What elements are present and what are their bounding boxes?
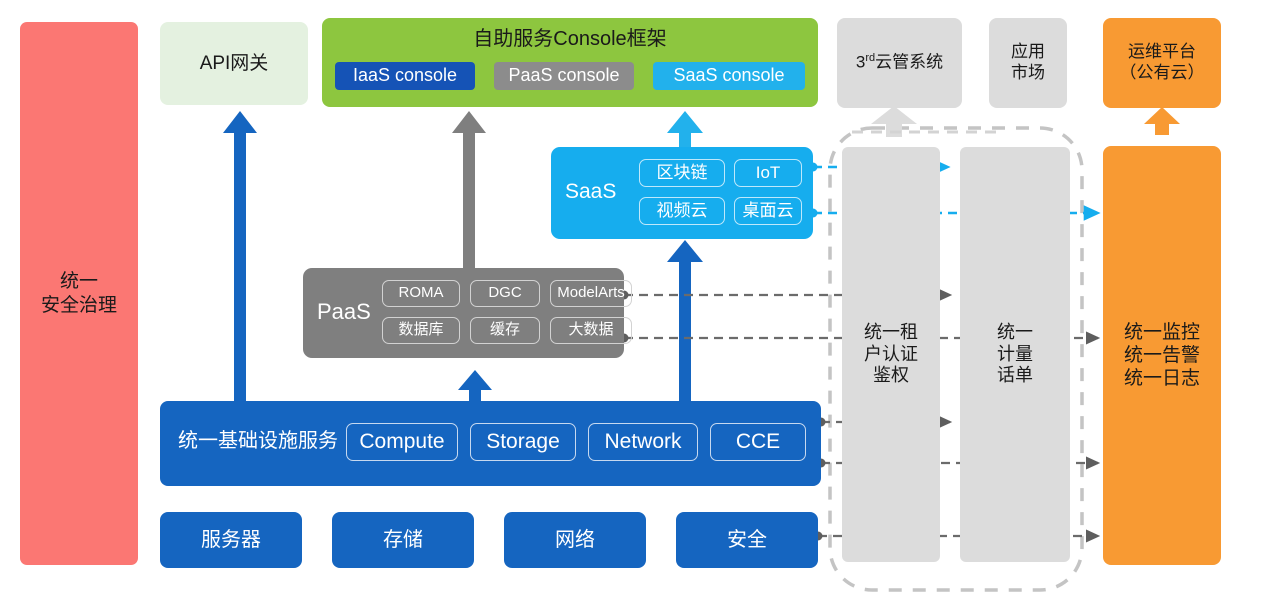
third-party-label: 3rd云管系统 (856, 52, 943, 73)
api-gateway-box[interactable]: API网关 (160, 22, 308, 105)
auth-line-1: 统一租 (864, 322, 918, 344)
ops-platform-panel[interactable]: 统一监控 统一告警 统一日志 (1103, 146, 1221, 565)
app-market-line-2: 市场 (1011, 63, 1045, 84)
third-party-sup: rd (865, 52, 875, 64)
paas-console-chip[interactable]: PaaS console (494, 62, 634, 90)
security-line-1: 统一 (60, 270, 98, 293)
infra-service-storage[interactable]: Storage (470, 423, 576, 461)
third-party-cloud-mgmt-box[interactable]: 3rd云管系统 (837, 18, 962, 108)
ops-tall-line-1: 统一监控 (1124, 321, 1200, 344)
arrow-infra-to-saas (667, 240, 703, 401)
ops-tall-line-2: 统一告警 (1124, 344, 1200, 367)
auth-line-2: 户认证 (864, 344, 918, 366)
security-line-2: 安全治理 (41, 294, 117, 317)
ops-platform-header-box[interactable]: 运维平台 （公有云） (1103, 18, 1221, 108)
architecture-diagram: 统一 安全治理 API网关 自助服务Console框架 IaaS console… (0, 0, 1265, 605)
arrow-infra-to-api (223, 111, 257, 401)
api-gateway-label: API网关 (200, 52, 269, 75)
paas-layer-label: PaaS (317, 299, 371, 326)
unified-tenant-auth-column[interactable]: 统一租 户认证 鉴权 (842, 147, 940, 562)
infrastructure-service-bar[interactable]: 统一基础设施服务 Compute Storage Network CCE (160, 401, 821, 486)
ops-tall-line-3: 统一日志 (1124, 367, 1200, 390)
iaas-console-chip[interactable]: IaaS console (335, 62, 475, 90)
arrow-to-ops-platform (1144, 107, 1180, 135)
arrow-infra-to-paas (458, 370, 492, 401)
ops-top-line-2: （公有云） (1120, 63, 1205, 84)
saas-service-desktop-cloud[interactable]: 桌面云 (734, 197, 802, 225)
paas-service-bigdata[interactable]: 大数据 (550, 317, 632, 344)
infra-service-network[interactable]: Network (588, 423, 698, 461)
unified-metering-column[interactable]: 统一 计量 话单 (960, 147, 1070, 562)
metering-line-3: 话单 (997, 365, 1033, 387)
resource-network-box[interactable]: 网络 (504, 512, 646, 568)
arrow-paas-to-console (452, 111, 486, 268)
paas-service-roma[interactable]: ROMA (382, 280, 460, 307)
saas-layer-block[interactable]: SaaS 区块链 IoT 视频云 桌面云 (551, 147, 813, 239)
auth-line-3: 鉴权 (873, 365, 909, 387)
saas-console-chip[interactable]: SaaS console (653, 62, 805, 90)
security-governance-panel[interactable]: 统一 安全治理 (20, 22, 138, 565)
ops-top-line-1: 运维平台 (1128, 42, 1196, 63)
arrow-saas-to-console (667, 111, 703, 147)
console-framework-title: 自助服务Console框架 (322, 27, 818, 51)
infrastructure-label: 统一基础设施服务 (178, 429, 338, 453)
infra-service-compute[interactable]: Compute (346, 423, 458, 461)
resource-server-box[interactable]: 服务器 (160, 512, 302, 568)
paas-service-modelarts[interactable]: ModelArts (550, 280, 632, 307)
resource-storage-box[interactable]: 存储 (332, 512, 474, 568)
third-party-suffix: 云管系统 (875, 53, 943, 72)
saas-service-blockchain[interactable]: 区块链 (639, 159, 725, 187)
infra-service-cce[interactable]: CCE (710, 423, 806, 461)
saas-service-iot[interactable]: IoT (734, 159, 802, 187)
console-framework-block[interactable]: 自助服务Console框架 IaaS console PaaS console … (322, 18, 818, 107)
app-market-box[interactable]: 应用 市场 (989, 18, 1067, 108)
saas-service-video-cloud[interactable]: 视频云 (639, 197, 725, 225)
metering-line-1: 统一 (997, 322, 1033, 344)
saas-layer-label: SaaS (565, 179, 616, 205)
paas-layer-block[interactable]: PaaS ROMA DGC ModelArts 数据库 缓存 大数据 (303, 268, 624, 358)
resource-security-box[interactable]: 安全 (676, 512, 818, 568)
app-market-line-1: 应用 (1011, 42, 1045, 63)
metering-line-2: 计量 (997, 344, 1033, 366)
paas-service-dgc[interactable]: DGC (470, 280, 540, 307)
third-party-prefix: 3 (856, 53, 865, 72)
paas-service-cache[interactable]: 缓存 (470, 317, 540, 344)
arrow-to-third-party (871, 106, 917, 137)
paas-service-database[interactable]: 数据库 (382, 317, 460, 344)
